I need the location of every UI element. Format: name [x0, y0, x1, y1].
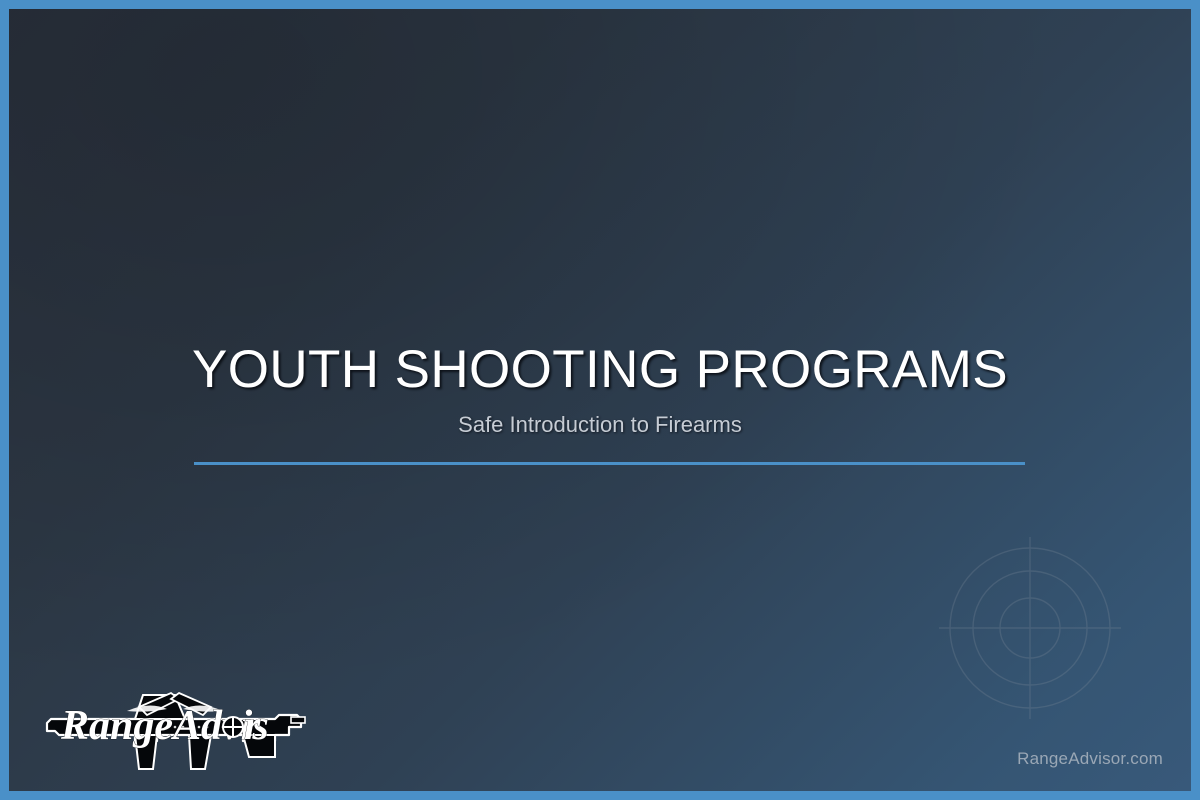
svg-text:r: r: [244, 703, 261, 749]
title-block: YOUTH SHOOTING PROGRAMS Safe Introductio…: [9, 341, 1191, 439]
page-title: YOUTH SHOOTING PROGRAMS: [9, 341, 1191, 398]
page-subtitle: Safe Introduction to Firearms: [9, 412, 1191, 438]
footer-url: RangeAdvisor.com: [1017, 749, 1163, 769]
title-slide: YOUTH SHOOTING PROGRAMS Safe Introductio…: [0, 0, 1200, 800]
crosshair-target-icon: [930, 528, 1130, 728]
scope-reticle-icon: [223, 717, 243, 737]
accent-divider: [194, 462, 1025, 465]
brand-logo: RangeAdvis r: [39, 677, 309, 785]
